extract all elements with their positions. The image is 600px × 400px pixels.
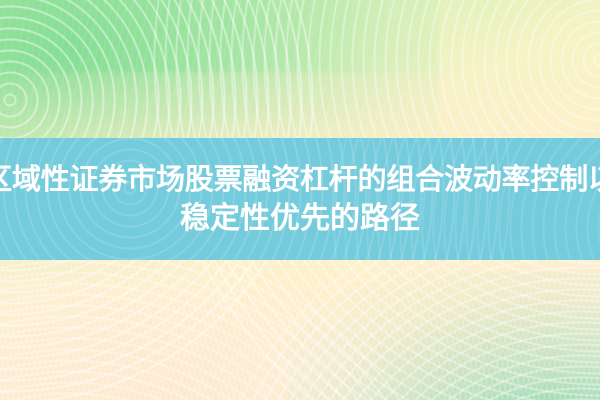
title-line-2: 稳定性优先的路径 <box>180 199 420 238</box>
moire-weave-top <box>0 0 600 140</box>
moire-weave-bottom <box>0 250 600 400</box>
title-band: 区域性证券市场股票融资杠杆的组合波动率控制以 稳定性优先的路径 <box>0 138 600 260</box>
title-line-1: 区域性证券市场股票融资杠杆的组合波动率控制以 <box>0 160 600 199</box>
title-banner: 区域性证券市场股票融资杠杆的组合波动率控制以 稳定性优先的路径 <box>0 0 600 400</box>
